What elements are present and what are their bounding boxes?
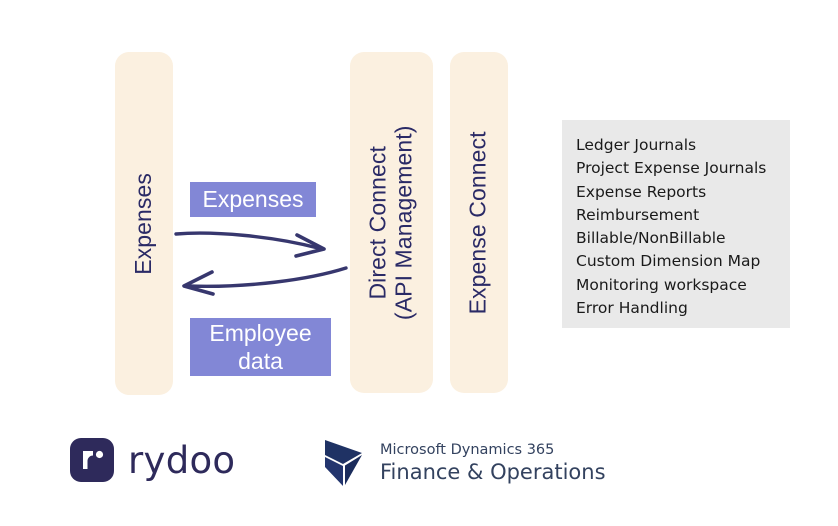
column-direct-connect-label-line1: Direct Connect bbox=[366, 125, 392, 320]
column-expense-connect-label: Expense Connect bbox=[466, 131, 492, 314]
dynamics-logo: Microsoft Dynamics 365 Finance & Operati… bbox=[322, 437, 606, 489]
rydoo-wordmark: rydoo bbox=[128, 442, 235, 479]
feature-list-panel: Ledger Journals Project Expense Journals… bbox=[562, 120, 790, 328]
dynamics-logo-mark-icon bbox=[322, 437, 368, 489]
flow-arrows bbox=[168, 222, 354, 304]
flow-label-employee-data-text: Employee data bbox=[209, 319, 311, 375]
dynamics-wordmark-line2: Finance & Operations bbox=[380, 460, 606, 485]
flow-label-expenses: Expenses bbox=[190, 182, 316, 217]
flow-label-employee-data-line2: data bbox=[238, 348, 283, 374]
list-item: Expense Reports bbox=[576, 181, 790, 204]
rydoo-logo: rydoo bbox=[70, 438, 235, 482]
list-item: Custom Dimension Map bbox=[576, 250, 790, 273]
list-item: Project Expense Journals bbox=[576, 157, 790, 180]
list-item: Billable/NonBillable bbox=[576, 227, 790, 250]
column-direct-connect-label-line2: (API Management) bbox=[392, 125, 418, 320]
list-item: Reimbursement bbox=[576, 204, 790, 227]
rydoo-logo-mark-icon bbox=[70, 438, 114, 482]
arrow-right-icon bbox=[176, 233, 324, 256]
list-item: Error Handling bbox=[576, 297, 790, 320]
column-direct-connect: Direct Connect (API Management) bbox=[350, 52, 433, 393]
column-direct-connect-label: Direct Connect (API Management) bbox=[366, 125, 418, 320]
column-expenses-label: Expenses bbox=[131, 173, 157, 275]
diagram-canvas: Expenses Direct Connect (API Management)… bbox=[0, 0, 838, 526]
flow-label-employee-data-line1: Employee bbox=[209, 320, 311, 346]
list-item: Ledger Journals bbox=[576, 134, 790, 157]
flow-label-employee-data: Employee data bbox=[190, 318, 331, 376]
column-expenses: Expenses bbox=[115, 52, 173, 395]
dynamics-wordmark: Microsoft Dynamics 365 Finance & Operati… bbox=[380, 441, 606, 485]
flow-label-expenses-text: Expenses bbox=[202, 185, 303, 213]
column-expense-connect: Expense Connect bbox=[450, 52, 508, 393]
dynamics-wordmark-line1: Microsoft Dynamics 365 bbox=[380, 441, 606, 460]
list-item: Monitoring workspace bbox=[576, 274, 790, 297]
arrow-left-icon bbox=[184, 268, 346, 294]
